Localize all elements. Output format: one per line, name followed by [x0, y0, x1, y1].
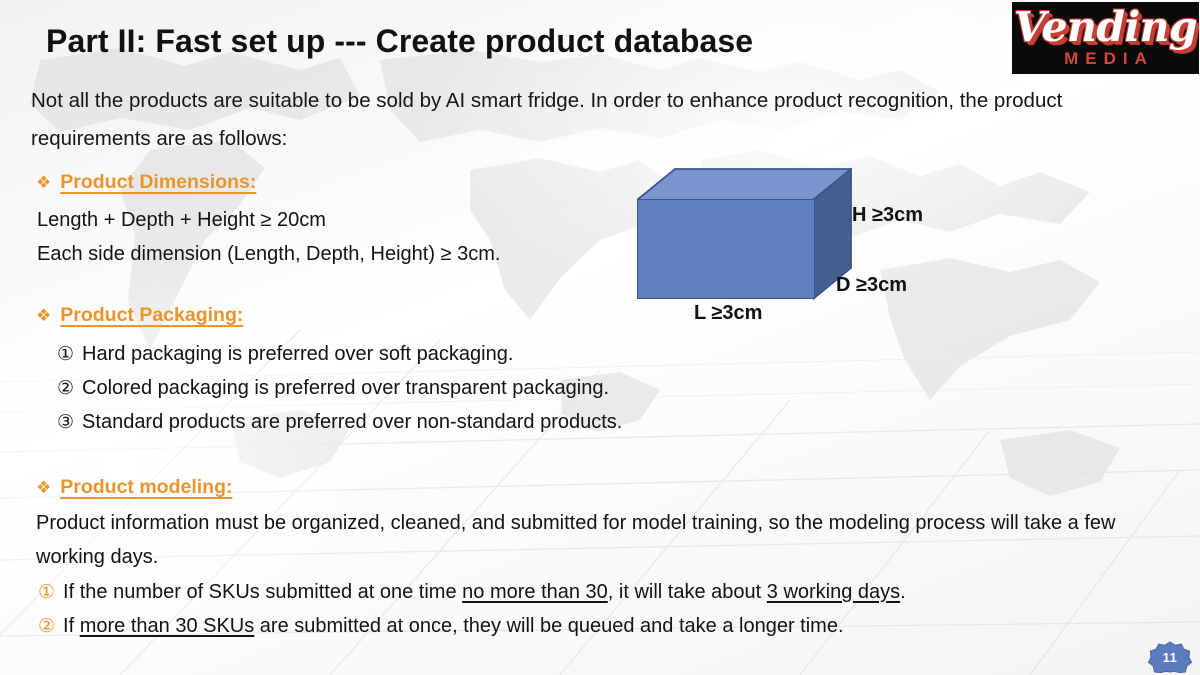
dimension-label-length: L ≥3cm: [694, 302, 762, 325]
circled-number-marker: ②: [57, 372, 74, 404]
logo-subtitle-text: MEDIA: [1012, 49, 1199, 69]
page-title: Part II: Fast set up --- Create product …: [46, 20, 753, 62]
intro-paragraph: Not all the products are suitable to be …: [31, 82, 1171, 158]
section-heading-label: Product modeling:: [60, 476, 232, 499]
dimension-label-height: H ≥3cm: [852, 204, 923, 227]
list-item-text: If more than 30 SKUs are submitted at on…: [63, 610, 843, 642]
section-heading-modeling: ❖ Product modeling:: [36, 476, 233, 499]
list-item-text: Colored packaging is preferred over tran…: [82, 372, 609, 404]
section-heading-label: Product Dimensions:: [60, 171, 256, 194]
list-item-text: If the number of SKUs submitted at one t…: [63, 576, 906, 608]
section-heading-label: Product Packaging:: [60, 304, 243, 327]
slide-canvas: Vending MEDIA Part II: Fast set up --- C…: [0, 0, 1200, 675]
modeling-paragraph: Product information must be organized, c…: [36, 506, 1146, 574]
list-item-text: Standard products are preferred over non…: [82, 406, 622, 438]
emphasis-underline: no more than 30: [462, 581, 608, 603]
logo-script-text: Vending: [1012, 3, 1199, 51]
section-heading-dimensions: ❖ Product Dimensions:: [36, 171, 256, 194]
dimensions-line-1: Length + Depth + Height ≥ 20cm: [37, 203, 326, 237]
page-number-badge: 11: [1148, 641, 1192, 673]
vending-media-logo: Vending MEDIA: [1012, 2, 1199, 74]
dimensions-line-2: Each side dimension (Length, Depth, Heig…: [37, 237, 500, 271]
dimension-label-depth: D ≥3cm: [836, 274, 907, 297]
list-item-text: Hard packaging is preferred over soft pa…: [82, 338, 513, 370]
emphasis-underline: more than 30 SKUs: [80, 615, 255, 637]
circled-number-marker: ②: [38, 610, 55, 642]
circled-number-marker: ③: [57, 406, 74, 438]
list-item: ① Hard packaging is preferred over soft …: [57, 338, 513, 370]
list-item: ② Colored packaging is preferred over tr…: [57, 372, 609, 404]
section-heading-packaging: ❖ Product Packaging:: [36, 304, 243, 327]
list-item: ① If the number of SKUs submitted at one…: [38, 576, 906, 608]
diamond-bullet-icon: ❖: [36, 174, 51, 191]
box-front-face: [637, 199, 815, 299]
circled-number-marker: ①: [38, 576, 55, 608]
emphasis-underline: 3 working days: [767, 581, 900, 603]
list-item: ③ Standard products are preferred over n…: [57, 406, 622, 438]
circled-number-marker: ①: [57, 338, 74, 370]
page-number-text: 11: [1148, 641, 1192, 673]
diamond-bullet-icon: ❖: [36, 479, 51, 496]
list-item: ② If more than 30 SKUs are submitted at …: [38, 610, 844, 642]
product-box-3d-diagram: [637, 168, 852, 303]
diamond-bullet-icon: ❖: [36, 307, 51, 324]
